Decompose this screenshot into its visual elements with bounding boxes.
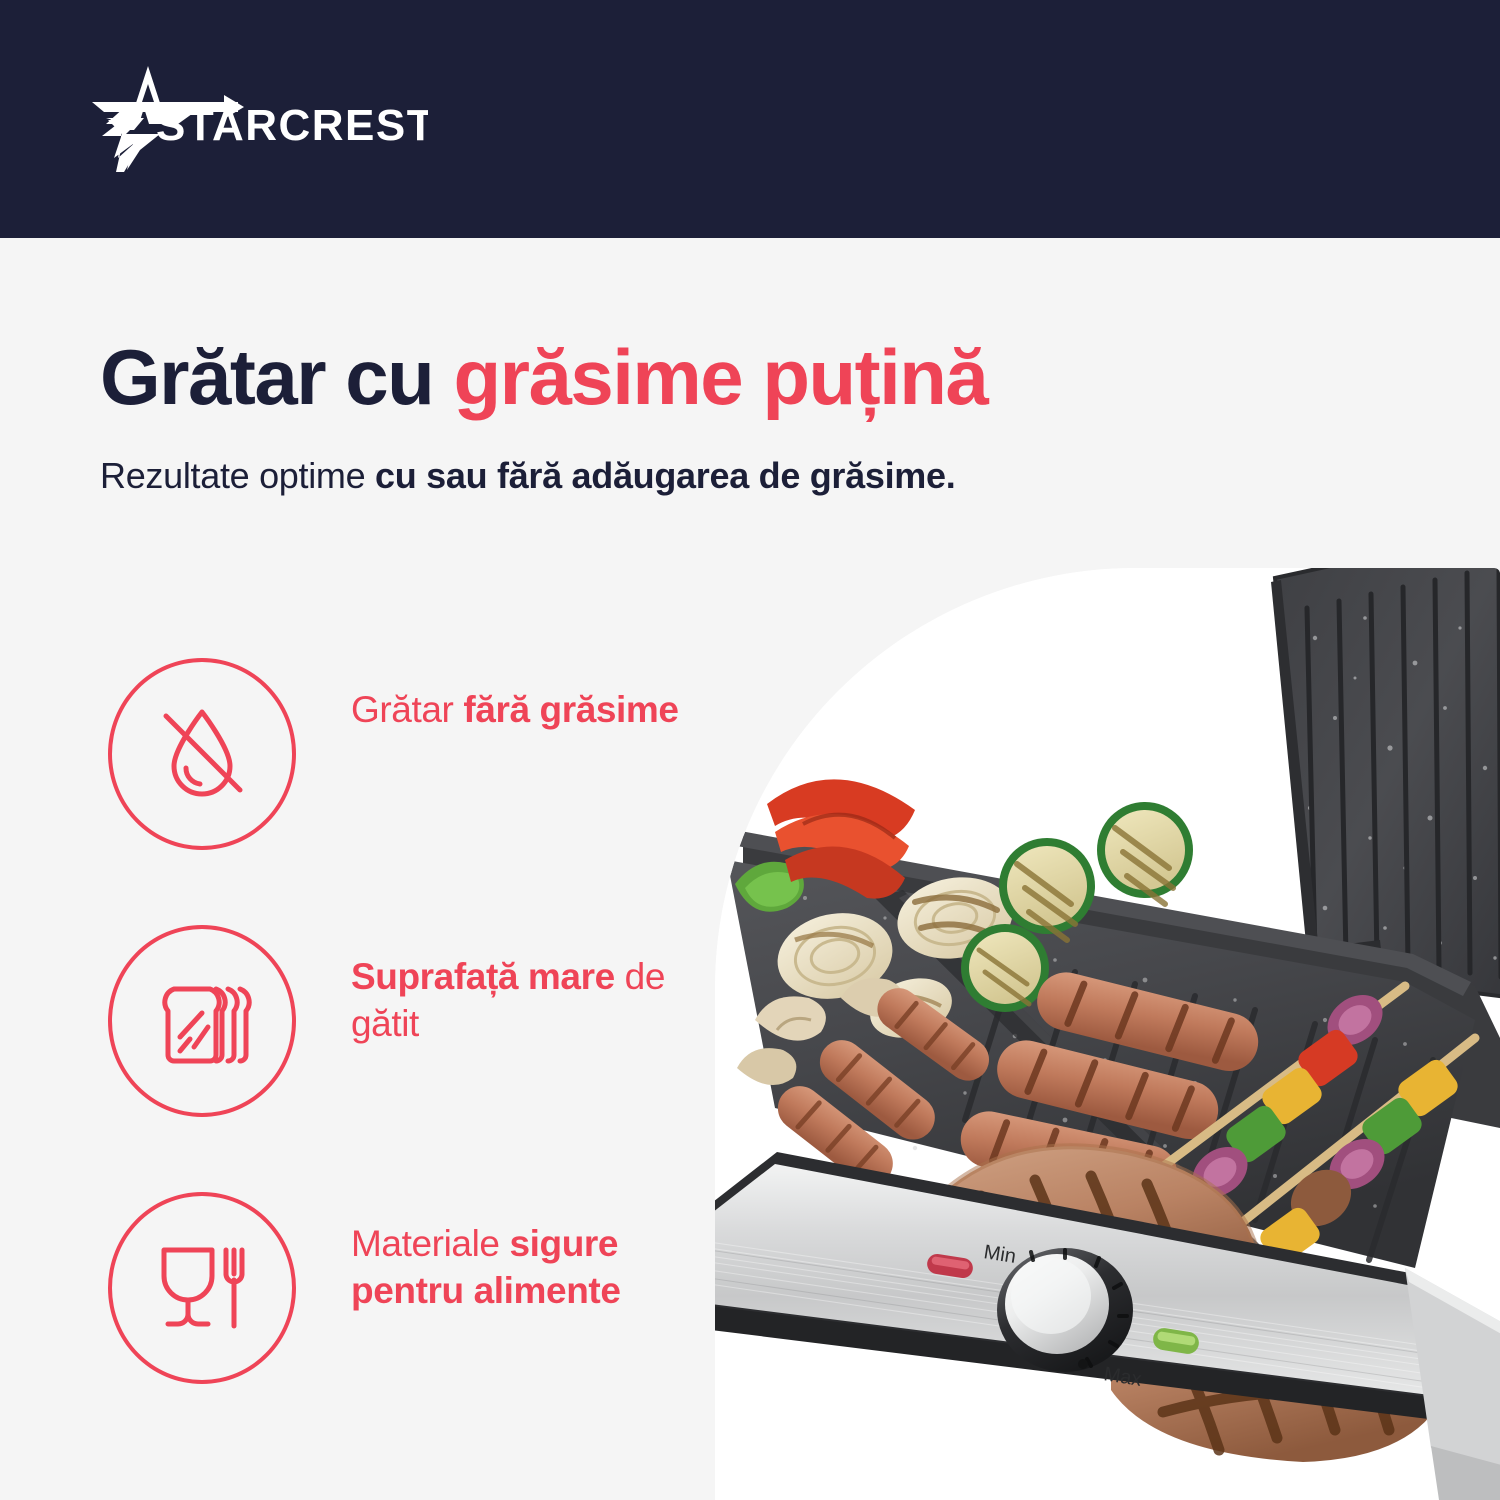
starcrest-logo: STARCREST — [78, 62, 428, 177]
feature-label-light: Grătar — [351, 689, 463, 730]
feature-item-no-fat: Grătar fără grăsime — [108, 658, 708, 858]
page-title: Grătar cu grăsime puțină — [100, 338, 1380, 416]
feature-label-bold: Suprafață mare — [351, 956, 615, 997]
subtitle-light: Rezultate optime — [100, 455, 375, 496]
feature-item-large-surface: Suprafață mare de gătit — [108, 925, 708, 1125]
temperature-knob[interactable] — [997, 1248, 1133, 1372]
headline-part-two: grăsime puțină — [453, 333, 987, 421]
subtitle-bold: cu sau fără adăugarea de grăsime. — [375, 455, 955, 496]
feature-label-light: Materiale — [351, 1223, 509, 1264]
logo-wordmark: STARCREST — [156, 101, 428, 150]
feature-label: Grătar fără grăsime — [351, 686, 721, 733]
brand-header-bar: STARCREST — [0, 0, 1500, 238]
no-oil-droplet-icon — [144, 696, 260, 812]
bread-slices-icon — [144, 963, 260, 1079]
star-logo-icon: STARCREST — [78, 62, 428, 177]
feature-item-food-safe: Materiale sigure pentru alimente — [108, 1192, 708, 1392]
headline-part-one: Grătar cu — [100, 333, 453, 421]
product-photo: Min — [715, 568, 1500, 1500]
grill-lid — [1271, 568, 1500, 998]
food-safe-glass-fork-icon — [144, 1230, 260, 1346]
product-image-panel: Min — [715, 568, 1500, 1500]
feature-label: Suprafață mare de gătit — [351, 953, 721, 1048]
feature-label: Materiale sigure pentru alimente — [351, 1220, 721, 1315]
feature-label-bold: fără grăsime — [463, 689, 678, 730]
page-subtitle: Rezultate optime cu sau fără adăugarea d… — [100, 455, 1400, 497]
